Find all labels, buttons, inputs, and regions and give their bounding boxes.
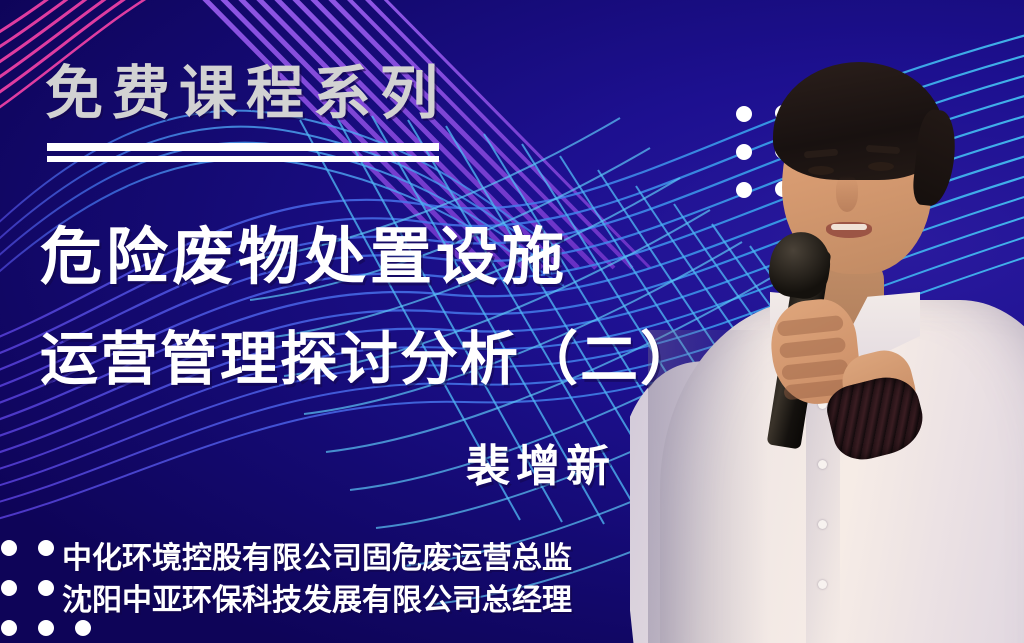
divider-line-thin [47,156,439,162]
main-title-line-1: 危险废物处置设施 [40,206,568,296]
mouth [826,222,872,238]
course-poster: 免费课程系列 危险废物处置设施 运营管理探讨分析（二） 裴增新 中化环境控股有限… [0,0,1024,643]
main-title-line-2: 运营管理探讨分析（二） [40,312,700,396]
nose [836,176,858,212]
eye-right [868,162,894,171]
credential-line-1: 中化环境控股有限公司固危废运营总监 [62,533,572,577]
credential-line-2: 沈阳中亚环保科技发展有限公司总经理 [62,575,572,619]
kicker-text: 免费课程系列 [45,46,447,130]
shirt-buttons [818,400,828,640]
title-divider [47,143,439,162]
speaker-name: 裴增新 [466,430,616,494]
divider-line-thick [47,143,439,151]
eye-left [808,166,834,175]
